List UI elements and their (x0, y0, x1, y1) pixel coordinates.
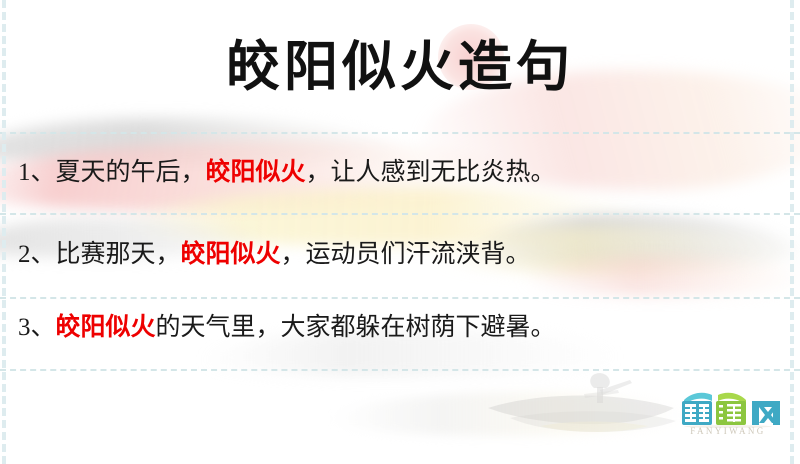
sentence-1-before: 夏天的午后， (56, 159, 206, 186)
sentence-2-keyword: 皎阳似火 (181, 241, 281, 268)
slide-page: 皎阳似火造句 1、夏天的午后，皎阳似火，让人感到无比炎热。 2、比赛那天，皎阳似… (0, 0, 800, 464)
site-logo[interactable]: FANYIWANG (668, 386, 788, 444)
divider-rule-3 (0, 297, 800, 299)
logo-subtitle: FANYIWANG (668, 426, 788, 436)
sentence-3-number: 3、 (18, 314, 56, 341)
sentence-1-number: 1、 (18, 159, 56, 186)
sentence-2-number: 2、 (18, 241, 56, 268)
page-title: 皎阳似火造句 (0, 34, 800, 98)
sentence-2-after: ，运动员们汗流浃背。 (281, 241, 531, 268)
example-sentence-2: 2、比赛那天，皎阳似火，运动员们汗流浃背。 (18, 238, 788, 272)
sentence-3-keyword: 皎阳似火 (56, 314, 156, 341)
sentence-1-after: ，让人感到无比炎热。 (306, 159, 556, 186)
sentence-1-keyword: 皎阳似火 (206, 159, 306, 186)
sentence-3-after: 的天气里，大家都躲在树荫下避暑。 (156, 314, 556, 341)
divider-rule-4 (0, 369, 800, 371)
divider-rule-2 (0, 213, 800, 215)
example-sentence-1: 1、夏天的午后，皎阳似火，让人感到无比炎热。 (18, 156, 788, 190)
example-sentence-3: 3、皎阳似火的天气里，大家都躲在树荫下避暑。 (18, 311, 788, 345)
divider-rule-1 (0, 132, 800, 134)
sentence-2-before: 比赛那天， (56, 241, 181, 268)
fanyiwang-logo-icon (668, 386, 788, 428)
ink-wash-bottom (330, 392, 690, 436)
ink-boat-icon (480, 368, 680, 446)
